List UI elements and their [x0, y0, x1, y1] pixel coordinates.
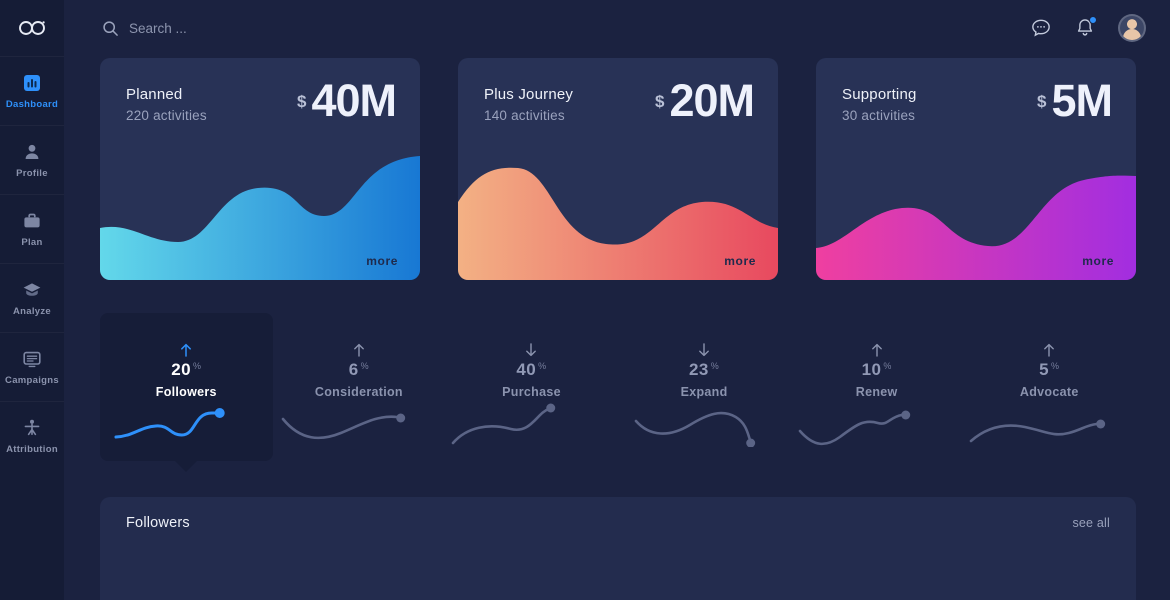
arrow-up-icon: [1043, 343, 1055, 357]
notifications-button[interactable]: [1074, 17, 1096, 39]
card-value: 20M: [669, 78, 754, 123]
see-all-link[interactable]: see all: [1072, 516, 1110, 530]
sidebar-item-label: Campaigns: [5, 375, 59, 386]
metric-value-group: 20 %: [171, 360, 201, 380]
sidebar-item-label: Dashboard: [6, 99, 58, 110]
arrow-down-icon: [525, 343, 537, 357]
sidebar-item-label: Plan: [21, 237, 42, 248]
card-currency: $: [655, 92, 664, 112]
summary-card-planned[interactable]: Planned 220 activities $ 40M more: [100, 58, 420, 280]
sidebar-item-attribution[interactable]: Attribution: [0, 401, 64, 470]
panel-title: Followers: [126, 515, 190, 531]
card-amount: $ 40M: [297, 78, 396, 123]
summary-card-supporting[interactable]: Supporting 30 activities $ 5M more: [816, 58, 1136, 280]
bar-chart-icon: [22, 73, 42, 93]
messages-button[interactable]: [1030, 17, 1052, 39]
sidebar-item-dashboard[interactable]: Dashboard: [0, 56, 64, 125]
card-currency: $: [297, 92, 306, 112]
arrow-up-icon: [180, 343, 192, 357]
metric-value-group: 6 %: [349, 360, 369, 380]
search-bar[interactable]: [102, 20, 389, 37]
briefcase-icon: [22, 211, 42, 231]
app-logo[interactable]: [0, 0, 64, 56]
sidebar-item-profile[interactable]: Profile: [0, 125, 64, 194]
metric-value: 10: [862, 360, 882, 380]
sidebar: Dashboard Profile Plan Analyze Campaigns: [0, 0, 64, 600]
person-arms-icon: [22, 418, 42, 438]
metric-sparkline: [790, 391, 963, 447]
summary-cards: Planned 220 activities $ 40M more Plus J…: [100, 58, 1136, 280]
notification-dot: [1089, 16, 1097, 24]
arrow-up-icon: [353, 343, 365, 357]
followers-panel-header: Followers see all: [100, 497, 1136, 531]
metric-renew[interactable]: 10 % Renew: [790, 313, 963, 461]
metric-unit: %: [1051, 361, 1059, 371]
metric-sparkline: [100, 391, 273, 447]
graduation-cap-icon: [22, 280, 42, 300]
arrow-up-icon: [871, 343, 883, 357]
metric-value: 6: [349, 360, 359, 380]
metric-unit: %: [361, 361, 369, 371]
card-more-link[interactable]: more: [366, 254, 398, 268]
metric-value: 23: [689, 360, 709, 380]
topbar-actions: [1030, 14, 1146, 42]
metric-followers[interactable]: 20 % Followers: [100, 313, 273, 461]
metric-sparkline: [963, 391, 1136, 447]
card-amount: $ 20M: [655, 78, 754, 123]
metric-unit: %: [193, 361, 201, 371]
metric-value: 20: [171, 360, 191, 380]
metric-sparkline: [445, 391, 618, 447]
card-amount: $ 5M: [1037, 78, 1112, 123]
metric-sparkline: [618, 391, 791, 447]
monitor-list-icon: [22, 349, 42, 369]
metric-value-group: 23 %: [689, 360, 719, 380]
sidebar-item-label: Profile: [16, 168, 48, 179]
metric-value-group: 40 %: [516, 360, 546, 380]
summary-card-plus-journey[interactable]: Plus Journey 140 activities $ 20M more: [458, 58, 778, 280]
metric-consideration[interactable]: 6 % Consideration: [273, 313, 446, 461]
followers-arc-charts: [100, 549, 1136, 600]
metric-unit: %: [538, 361, 546, 371]
metric-value-group: 10 %: [862, 360, 892, 380]
sidebar-item-analyze[interactable]: Analyze: [0, 263, 64, 332]
metric-sparkline: [273, 391, 446, 447]
followers-panel: Followers see all: [100, 497, 1136, 600]
search-input[interactable]: [129, 21, 389, 36]
search-icon: [102, 20, 119, 37]
metric-value-group: 5 %: [1039, 360, 1059, 380]
avatar[interactable]: [1118, 14, 1146, 42]
topbar: [64, 0, 1170, 56]
funnel-metrics: 20 % Followers 6 % Consideration 40 %: [100, 313, 1136, 461]
card-value: 5M: [1051, 78, 1112, 123]
card-currency: $: [1037, 92, 1046, 112]
card-more-link[interactable]: more: [724, 254, 756, 268]
infinity-logo-icon: [17, 18, 47, 38]
metric-unit: %: [883, 361, 891, 371]
sidebar-item-campaigns[interactable]: Campaigns: [0, 332, 64, 401]
metric-unit: %: [711, 361, 719, 371]
metric-value: 40: [516, 360, 536, 380]
chat-bubble-icon: [1030, 17, 1052, 39]
metric-expand[interactable]: 23 % Expand: [618, 313, 791, 461]
sidebar-item-label: Attribution: [6, 444, 58, 455]
sidebar-item-label: Analyze: [13, 306, 51, 317]
arrow-down-icon: [698, 343, 710, 357]
metric-purchase[interactable]: 40 % Purchase: [445, 313, 618, 461]
card-more-link[interactable]: more: [1082, 254, 1114, 268]
user-icon: [22, 142, 42, 162]
metric-value: 5: [1039, 360, 1049, 380]
card-value: 40M: [311, 78, 396, 123]
metric-advocate[interactable]: 5 % Advocate: [963, 313, 1136, 461]
sidebar-item-plan[interactable]: Plan: [0, 194, 64, 263]
